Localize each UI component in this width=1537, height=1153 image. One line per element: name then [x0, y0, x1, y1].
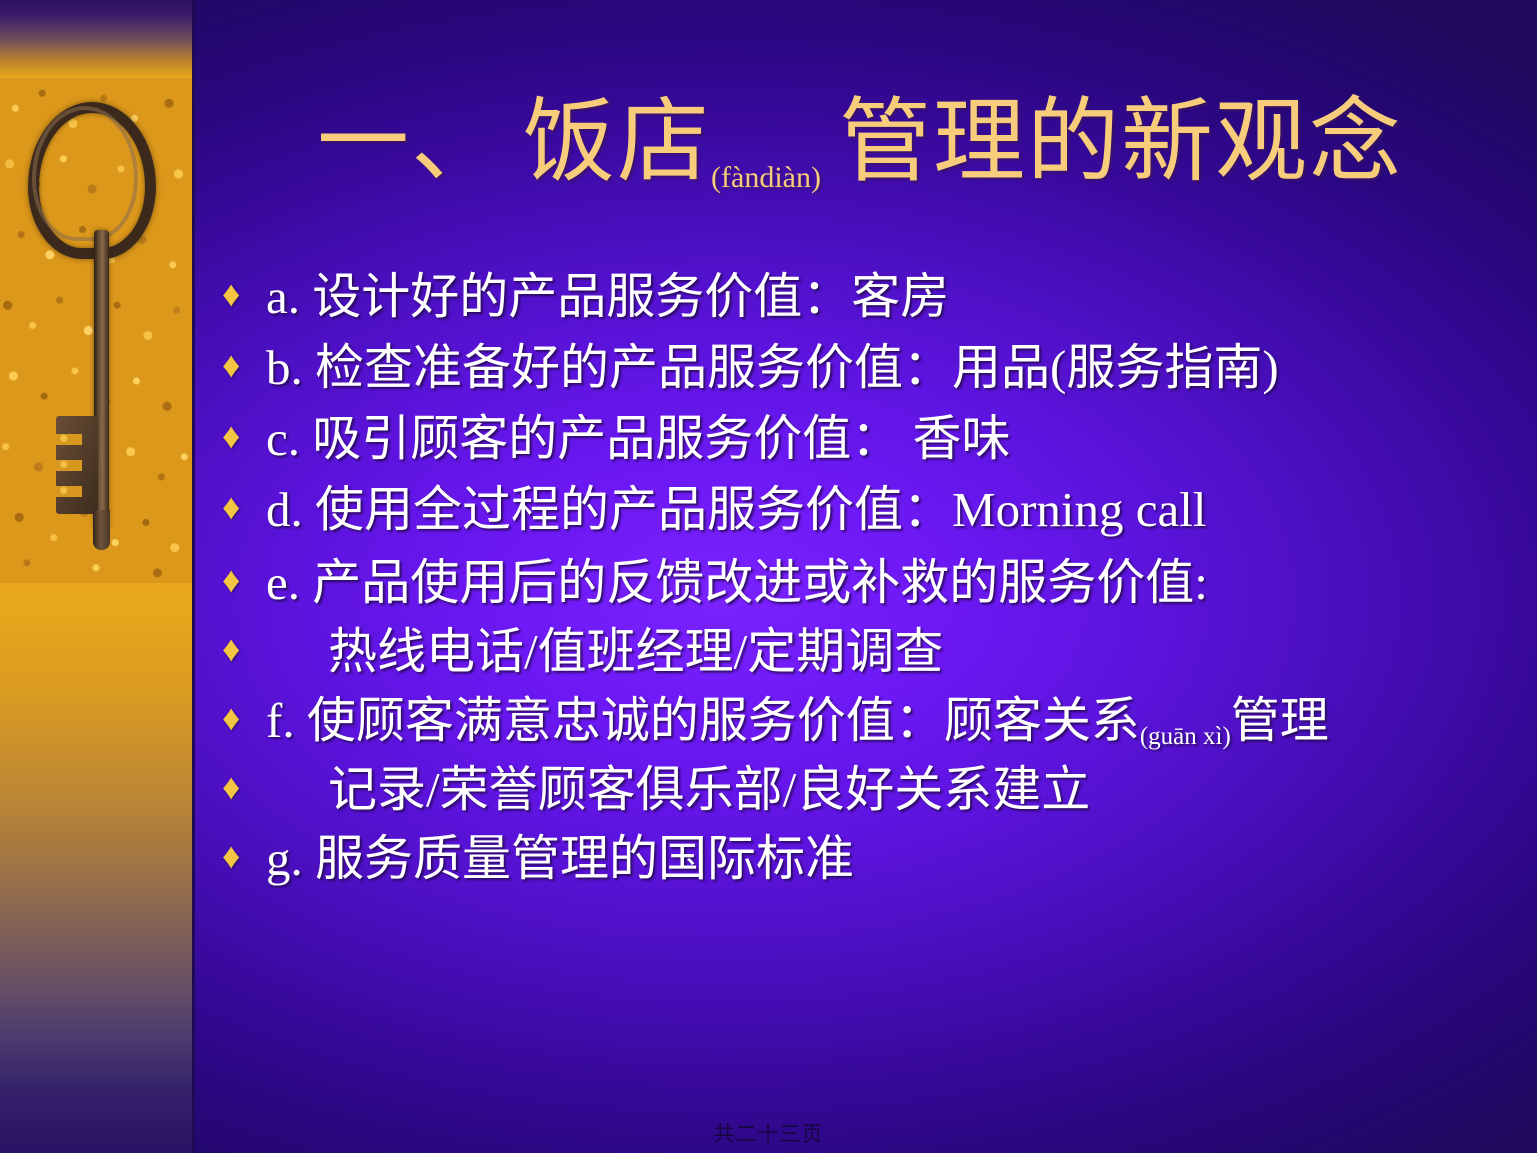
list-item: ♦ c. 吸引顾客的产品服务价值： 香味 [222, 414, 1522, 463]
list-item: ♦ b. 检查准备好的产品服务价值：用品(服务指南) [222, 343, 1522, 392]
key-tooth-icon [56, 460, 82, 471]
list-item-text: c. 吸引顾客的产品服务价值： 香味 [266, 414, 1011, 463]
title-term-pinyin: (fàndiàn) [711, 161, 821, 194]
diamond-bullet-icon: ♦ [222, 485, 266, 530]
list-item: ♦ a. 设计好的产品服务价值：客房 [222, 272, 1522, 321]
list-item: ♦ 热线电话/值班经理/定期调查 [222, 627, 1522, 676]
list-item-text: 记录/荣誉顾客俱乐部/良好关系建立 [266, 765, 1090, 814]
list-item-text-after: 管理 [1231, 693, 1329, 748]
list-item: ♦ e. 产品使用后的反馈改进或补救的服务价值: [222, 558, 1522, 607]
slide-footer-page-count: 共二十三页 [0, 1118, 1537, 1148]
diamond-bullet-icon: ♦ [222, 765, 266, 810]
title-suffix: 管理的新观念 [839, 91, 1403, 193]
sidebar-decoration [0, 0, 192, 1153]
slide-title: 一、饭店(fàndiàn)管理的新观念 [210, 96, 1510, 189]
list-item-text: g. 服务质量管理的国际标准 [266, 834, 854, 883]
list-item-text: e. 产品使用后的反馈改进或补救的服务价值: [266, 558, 1208, 607]
diamond-bullet-icon: ♦ [222, 343, 266, 388]
list-item-text-before: f. 使顾客满意忠诚的服务价值：顾客关系 [266, 693, 1140, 748]
key-tooth-icon [56, 486, 82, 497]
key-bow-highlight [32, 106, 138, 241]
key-tip-icon [93, 510, 110, 550]
bullet-list: ♦ a. 设计好的产品服务价值：客房 ♦ b. 检查准备好的产品服务价值：用品(… [222, 272, 1522, 883]
list-item-text: b. 检查准备好的产品服务价值：用品(服务指南) [266, 343, 1279, 392]
title-term: 饭店 [523, 91, 711, 193]
list-item: ♦ g. 服务质量管理的国际标准 [222, 834, 1522, 883]
diamond-bullet-icon: ♦ [222, 558, 266, 603]
list-item: ♦ 记录/荣誉顾客俱乐部/良好关系建立 [222, 765, 1522, 814]
diamond-bullet-icon: ♦ [222, 834, 266, 879]
list-item-text: d. 使用全过程的产品服务价值：Morning call [266, 485, 1206, 534]
diamond-bullet-icon: ♦ [222, 414, 266, 459]
list-item-text: a. 设计好的产品服务价值：客房 [266, 272, 949, 321]
diamond-bullet-icon: ♦ [222, 696, 266, 741]
diamond-bullet-icon: ♦ [222, 627, 266, 672]
list-item: ♦ d. 使用全过程的产品服务价值：Morning call [222, 485, 1522, 534]
list-item-text: f. 使顾客满意忠诚的服务价值：顾客关系(guān xì)管理 [266, 696, 1329, 745]
presentation-slide: 一、饭店(fàndiàn)管理的新观念 ♦ a. 设计好的产品服务价值：客房 ♦… [0, 0, 1537, 1153]
list-item-text: 热线电话/值班经理/定期调查 [266, 627, 943, 676]
key-tooth-icon [56, 434, 82, 445]
sidebar-edge-divider [192, 0, 195, 1153]
list-item: ♦ f. 使顾客满意忠诚的服务价值：顾客关系(guān xì)管理 [222, 696, 1522, 745]
title-prefix: 一、 [317, 91, 505, 193]
key-photo [0, 78, 192, 583]
diamond-bullet-icon: ♦ [222, 272, 266, 317]
list-item-pinyin: (guān xì) [1140, 723, 1231, 750]
